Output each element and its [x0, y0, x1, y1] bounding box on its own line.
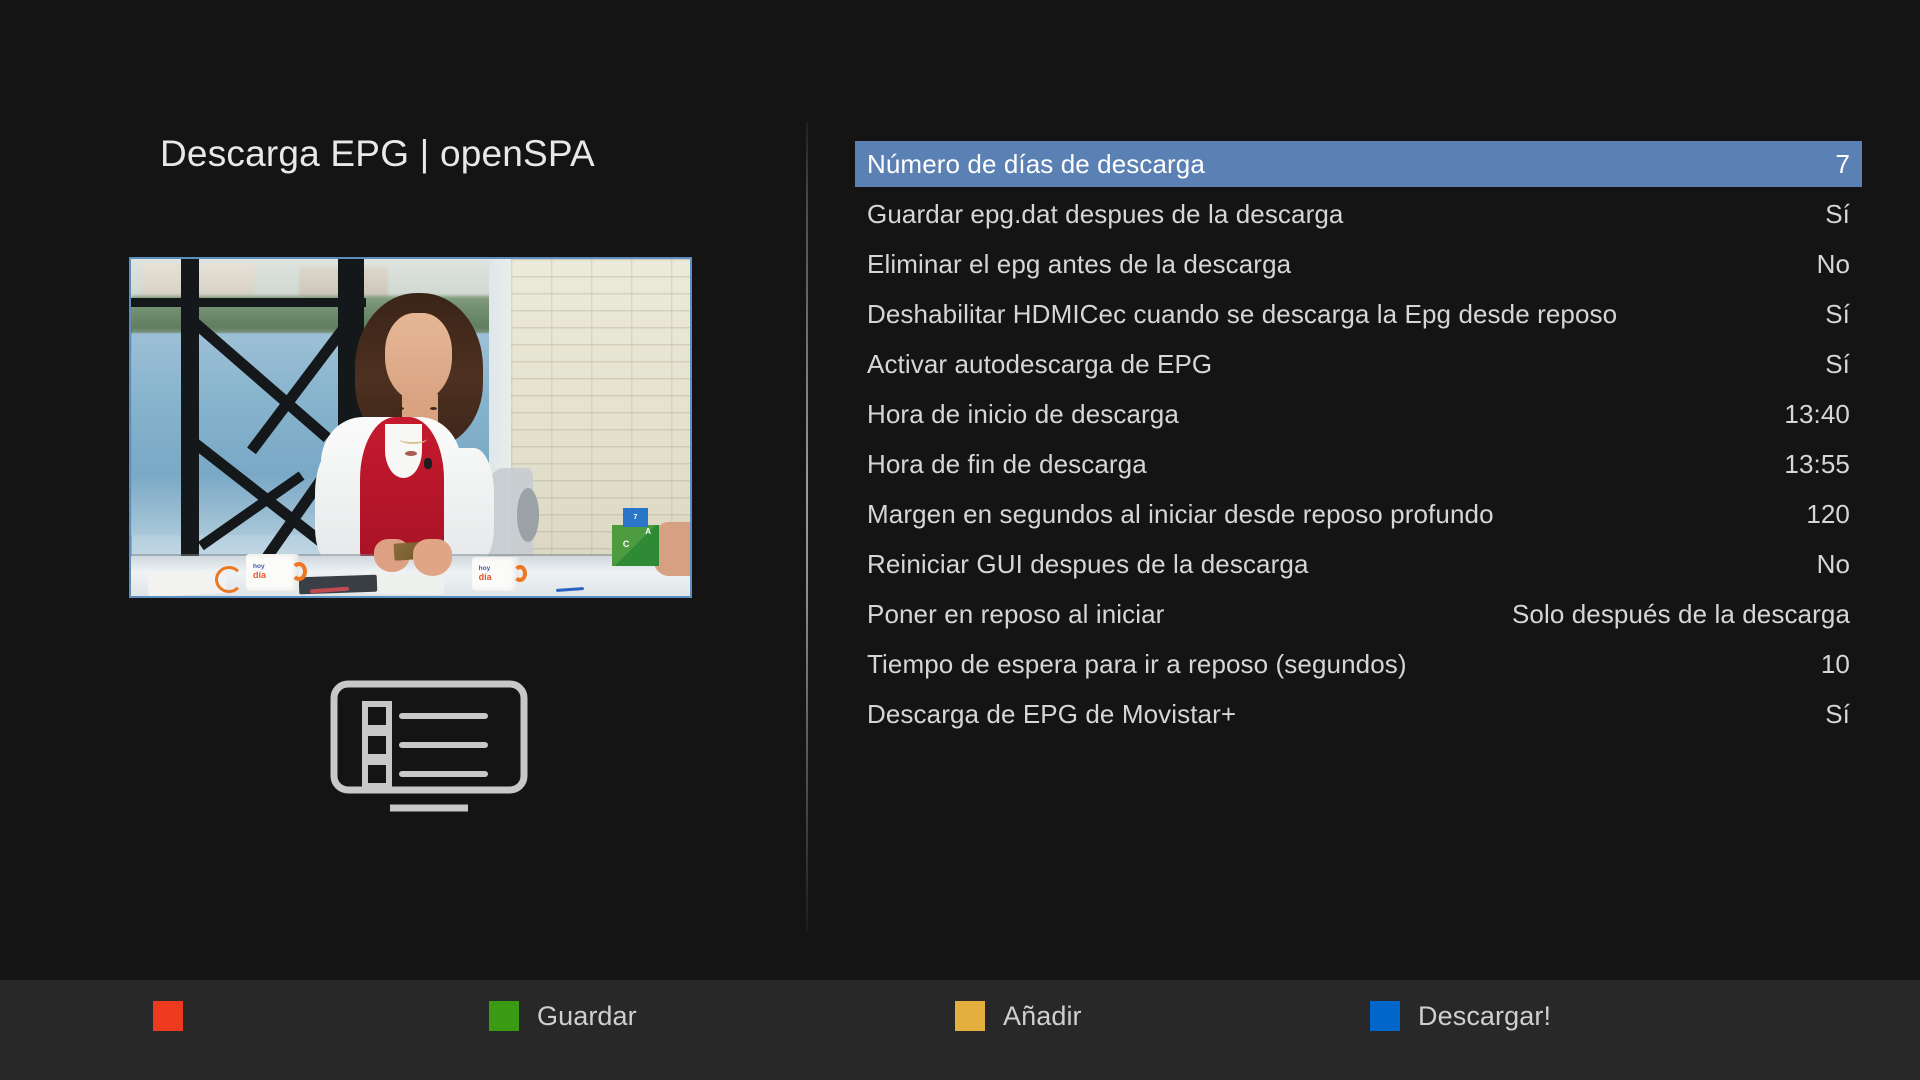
channel-number-badge: 7	[623, 508, 648, 527]
yellow-button-anadir[interactable]: Añadir	[955, 1000, 1082, 1032]
blue-swatch-icon	[1370, 1001, 1400, 1031]
settings-row[interactable]: Reiniciar GUI despues de la descargaNo	[855, 541, 1862, 587]
color-button-bar: Guardar Añadir Descargar!	[0, 980, 1920, 1080]
settings-row[interactable]: Deshabilitar HDMICec cuando se descarga …	[855, 291, 1862, 337]
desk-mug-right: hoy día	[472, 557, 520, 591]
mug-handle	[513, 565, 527, 583]
settings-row-value: Sí	[1825, 199, 1850, 230]
green-swatch-icon	[489, 1001, 519, 1031]
page-title: Descarga EPG | openSPA	[160, 133, 595, 175]
settings-row-label: Poner en reposo al iniciar	[867, 599, 1164, 630]
presenter-mouth	[405, 451, 417, 456]
settings-row[interactable]: Poner en reposo al iniciarSolo después d…	[855, 591, 1862, 637]
settings-row-value: 13:55	[1784, 449, 1850, 480]
presenter-lapel-microphone	[424, 458, 432, 469]
desk-mug-left: hoy día	[246, 554, 299, 591]
settings-row-label: Margen en segundos al iniciar desde repo…	[867, 499, 1494, 530]
settings-row[interactable]: Número de días de descarga7	[855, 141, 1862, 187]
settings-row-label: Tiempo de espera para ir a reposo (segun…	[867, 649, 1407, 680]
settings-row[interactable]: Tiempo de espera para ir a reposo (segun…	[855, 641, 1862, 687]
settings-row[interactable]: Guardar epg.dat despues de la descargaSí	[855, 191, 1862, 237]
settings-row-label: Hora de inicio de descarga	[867, 399, 1179, 430]
settings-row-value: Solo después de la descarga	[1512, 599, 1850, 630]
presenter-hand-right	[413, 539, 452, 576]
settings-row-label: Deshabilitar HDMICec cuando se descarga …	[867, 299, 1617, 330]
settings-row-value: 10	[1821, 649, 1850, 680]
settings-row-value: Sí	[1825, 349, 1850, 380]
mug-logo: hoy día	[253, 562, 292, 583]
live-tv-preview[interactable]: hoy día hoy día 7 C A	[129, 257, 692, 598]
settings-row-label: Activar autodescarga de EPG	[867, 349, 1212, 380]
settings-list-icon-checkbox-2	[365, 733, 389, 757]
mug-logo-line-2: día	[479, 573, 514, 582]
settings-row[interactable]: Descarga de EPG de Movistar+Sí	[855, 691, 1862, 737]
red-button[interactable]	[153, 1000, 201, 1032]
green-button-guardar[interactable]: Guardar	[489, 1000, 637, 1032]
yellow-swatch-icon	[955, 1001, 985, 1031]
settings-list-icon-checkbox-1	[365, 704, 389, 728]
settings-row-label: Eliminar el epg antes de la descarga	[867, 249, 1291, 280]
settings-list-icon	[330, 680, 528, 820]
live-tv-preview-image: hoy día hoy día 7 C A	[131, 259, 690, 596]
yellow-button-label: Añadir	[1003, 1001, 1082, 1032]
window-beam-vertical-1	[181, 259, 199, 596]
panel-divider	[806, 122, 808, 932]
red-swatch-icon	[153, 1001, 183, 1031]
blue-button-label: Descargar!	[1418, 1001, 1551, 1032]
window-beam-horizontal	[131, 298, 366, 307]
settings-row-value: 13:40	[1784, 399, 1850, 430]
tv-settings-screen: Descarga EPG | openSPA	[0, 0, 1920, 1080]
settings-row-value: Sí	[1825, 699, 1850, 730]
settings-row-value: No	[1817, 249, 1850, 280]
settings-row[interactable]: Eliminar el epg antes de la descargaNo	[855, 241, 1862, 287]
settings-row[interactable]: Hora de fin de descarga13:55	[855, 441, 1862, 487]
blue-button-descargar[interactable]: Descargar!	[1370, 1000, 1551, 1032]
studio-chair-arm	[517, 488, 539, 542]
settings-row[interactable]: Margen en segundos al iniciar desde repo…	[855, 491, 1862, 537]
settings-row-label: Reiniciar GUI despues de la descarga	[867, 549, 1309, 580]
settings-row[interactable]: Hora de inicio de descarga13:40	[855, 391, 1862, 437]
desk-orange-c-logo	[215, 566, 243, 593]
settings-row[interactable]: Activar autodescarga de EPGSí	[855, 341, 1862, 387]
settings-row-label: Hora de fin de descarga	[867, 449, 1147, 480]
settings-row-value: 7	[1835, 149, 1850, 180]
presenter-face	[385, 313, 452, 401]
settings-row-label: Descarga de EPG de Movistar+	[867, 699, 1236, 730]
settings-row-label: Guardar epg.dat despues de la descarga	[867, 199, 1343, 230]
presenter-sleeve-right	[444, 448, 494, 563]
channel-logo-letter-a: A	[645, 527, 651, 536]
mug-logo: hoy día	[479, 565, 514, 584]
green-button-label: Guardar	[537, 1001, 637, 1032]
left-panel: Descarga EPG | openSPA	[0, 0, 806, 980]
channel-logo-icon	[612, 525, 660, 565]
settings-list[interactable]: Número de días de descarga7Guardar epg.d…	[855, 141, 1862, 741]
presenter-vest-notch	[385, 424, 421, 478]
presenter-sleeve-left	[315, 448, 365, 563]
settings-row-value: Sí	[1825, 299, 1850, 330]
settings-row-value: No	[1817, 549, 1850, 580]
settings-row-value: 120	[1806, 499, 1850, 530]
settings-list-icon-checkbox-3	[365, 762, 389, 786]
mug-logo-line-2: día	[253, 571, 292, 580]
settings-row-label: Número de días de descarga	[867, 149, 1205, 180]
channel-logo-letter-c: C	[623, 539, 630, 549]
